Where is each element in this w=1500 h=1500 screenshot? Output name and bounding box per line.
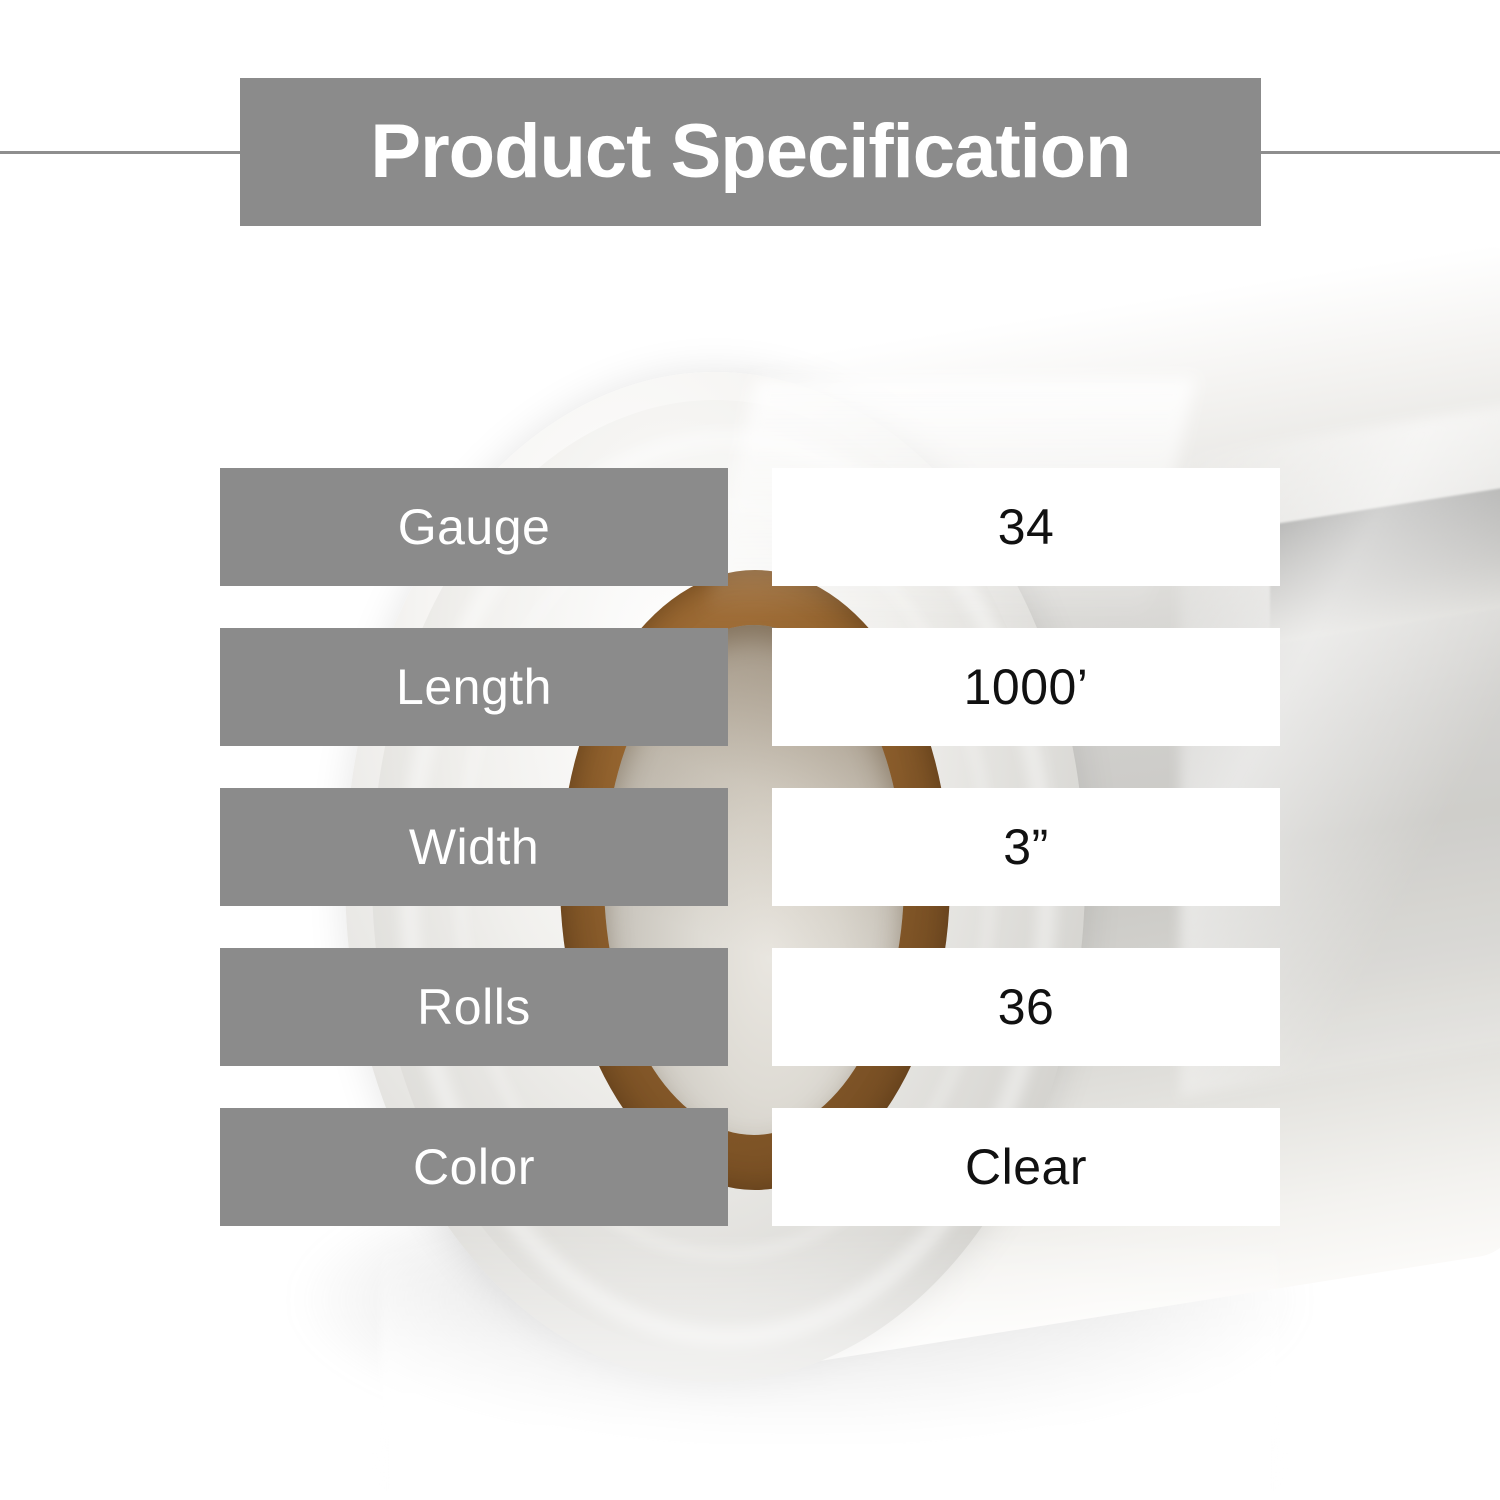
table-row: Rolls 36 [220,948,1280,1066]
table-row: Width 3” [220,788,1280,906]
table-row: Color Clear [220,1108,1280,1226]
spec-table: Gauge 34 Length 1000’ Width 3” Rolls 36 … [220,468,1280,1268]
spec-gap [728,468,772,586]
page-title: Product Specification [370,114,1130,190]
spec-value-color: Clear [772,1108,1280,1226]
spec-label-gauge: Gauge [220,468,728,586]
spec-label-color: Color [220,1108,728,1226]
spec-value-gauge: 34 [772,468,1280,586]
header: Product Specification [0,78,1500,226]
spec-gap [728,628,772,746]
photo-bottom-fade [380,1230,1280,1490]
product-specification-page: Product Specification Gauge 34 Length 10… [0,0,1500,1500]
spec-label-length: Length [220,628,728,746]
spec-value-rolls: 36 [772,948,1280,1066]
spec-label-rolls: Rolls [220,948,728,1066]
table-row: Length 1000’ [220,628,1280,746]
spec-label-width: Width [220,788,728,906]
spec-gap [728,948,772,1066]
spec-value-length: 1000’ [772,628,1280,746]
spec-gap [728,788,772,906]
spec-value-width: 3” [772,788,1280,906]
table-row: Gauge 34 [220,468,1280,586]
header-band: Product Specification [240,78,1261,226]
spec-gap [728,1108,772,1226]
